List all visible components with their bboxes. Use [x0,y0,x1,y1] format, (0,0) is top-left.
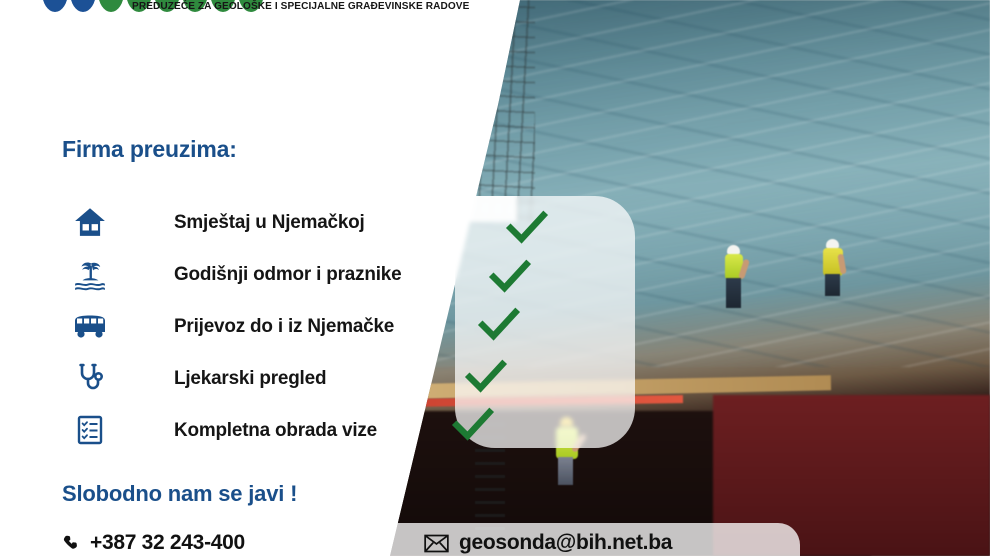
phone-number: +387 32 243-400 [90,531,245,555]
house-icon [62,205,118,239]
phone-icon [62,534,81,553]
poster-root: PREDUZEĆE ZA GEOLOŠKE I SPECIJALNE GRAĐE… [0,0,990,556]
palm-island-icon [62,257,118,291]
benefit-item-visa: Kompletna obrada vize [62,404,482,456]
logo-dot-3-icon [98,0,124,12]
envelope-icon [424,534,449,553]
logo-dot-2-icon [70,0,96,12]
benefit-item-accommodation: Smještaj u Njemačkoj [62,196,482,248]
photo-worker-2 [822,239,848,301]
bus-icon [62,309,118,343]
benefit-label: Prijevoz do i iz Njemačke [174,315,394,338]
benefit-item-vacation: Godišnji odmor i praznike [62,248,482,300]
email-address: geosonda@bih.net.ba [459,531,672,555]
email-contact[interactable]: geosonda@bih.net.ba [424,531,672,555]
benefits-list: Smještaj u Njemačkoj Godišnji odmor i pr… [62,196,482,456]
logo-dot-1-icon [42,0,68,12]
benefit-label: Kompletna obrada vize [174,419,377,442]
benefit-item-transport: Prijevoz do i iz Njemačke [62,300,482,352]
photo-worker-1 [723,245,749,307]
benefit-label: Ljekarski pregled [174,367,326,390]
left-content-column: PREDUZEĆE ZA GEOLOŠKE I SPECIJALNE GRAĐE… [0,0,520,556]
checklist-icon [62,413,118,447]
benefit-item-medical: Ljekarski pregled [62,352,482,404]
stethoscope-icon [62,361,118,395]
benefits-heading: Firma preuzima: [62,136,237,163]
phone-contact[interactable]: +387 32 243-400 [62,531,245,555]
benefit-label: Smještaj u Njemačkoj [174,211,365,234]
contact-cta: Slobodno nam se javi ! [62,481,297,507]
benefit-label: Godišnji odmor i praznike [174,263,401,286]
company-tagline: PREDUZEĆE ZA GEOLOŠKE I SPECIJALNE GRAĐE… [132,0,469,12]
